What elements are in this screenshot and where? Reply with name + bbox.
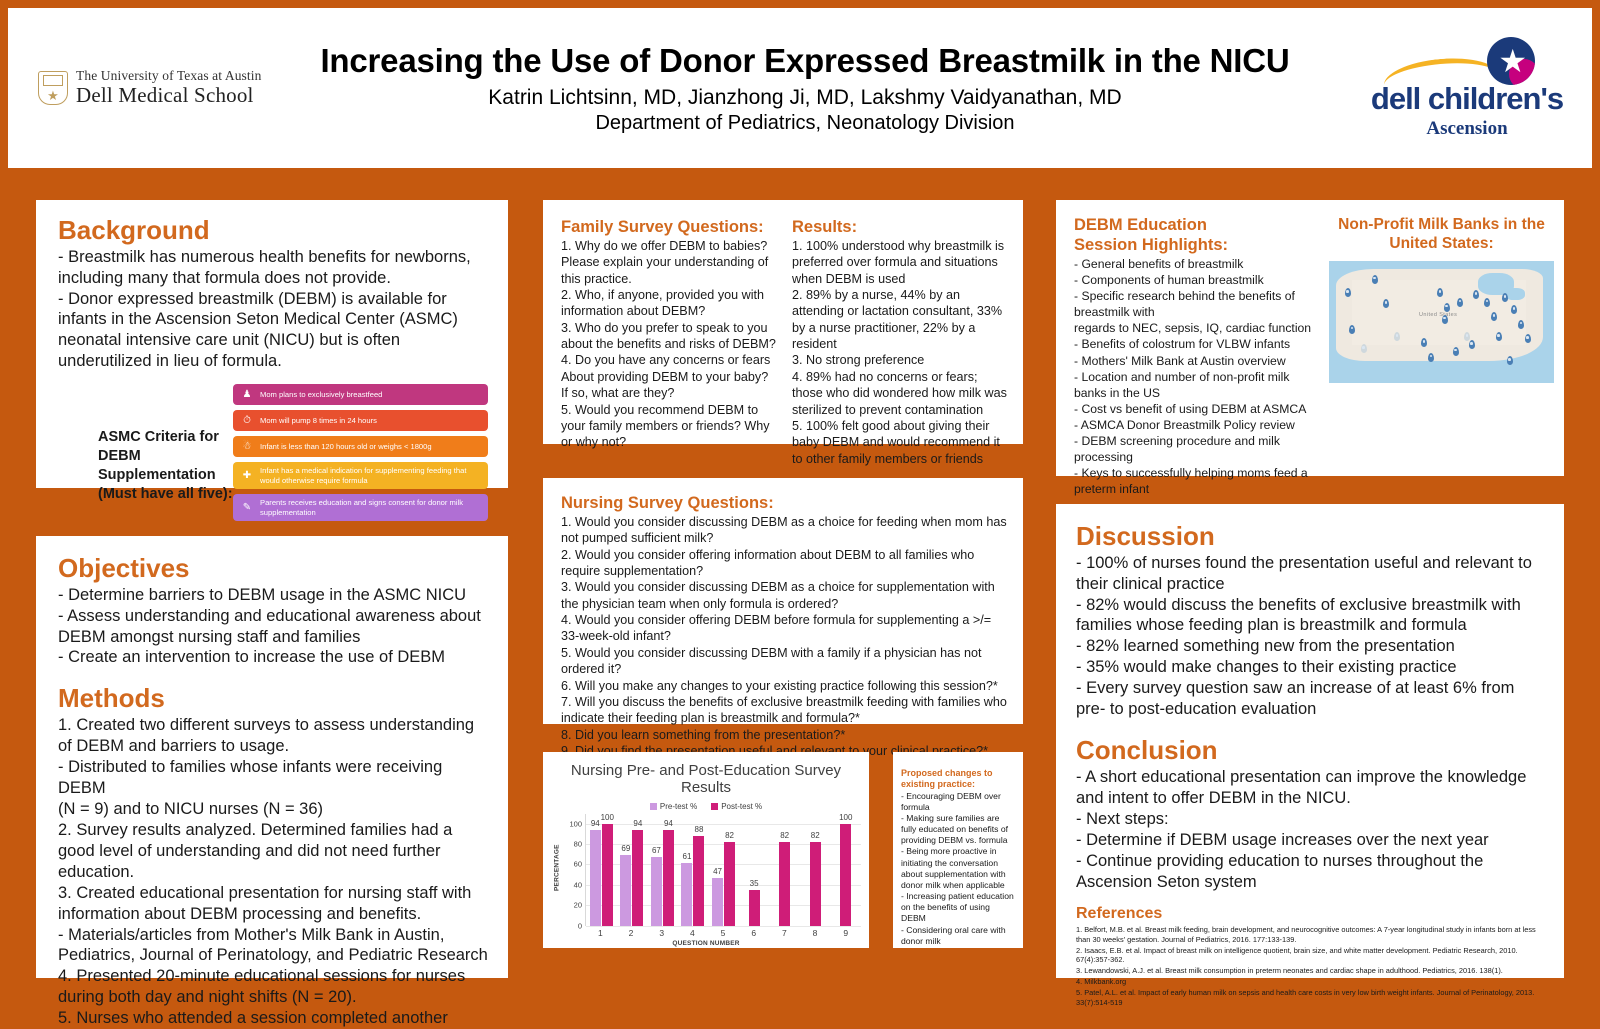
medical-cross-icon: ✚ — [241, 470, 253, 483]
ut-shield-icon — [38, 71, 68, 105]
poster-canvas: The University of Texas at Austin Dell M… — [0, 0, 1600, 1029]
map-pin — [1428, 353, 1434, 362]
criteria-text: Infant is less than 120 hours old or wei… — [260, 442, 432, 451]
chart-bar-group: 35 — [739, 814, 770, 926]
chart-bar[interactable]: 100 — [602, 824, 613, 926]
reference-item: 1. Belfort, M.B. et al. Breast milk feed… — [1076, 925, 1548, 945]
chart-bar-value: 94 — [664, 819, 673, 828]
map-pin — [1437, 288, 1443, 297]
poster-authors: Katrin Lichtsinn, MD, Jianzhong Ji, MD, … — [278, 86, 1332, 110]
chart-bar-value: 100 — [839, 813, 852, 822]
criteria-text: Infant has a medical indication for supp… — [260, 466, 480, 485]
proposed-changes-card: Proposed changes to existing practice: -… — [893, 752, 1023, 948]
swoosh-icon — [1382, 53, 1500, 89]
map-pin — [1484, 298, 1490, 307]
map-pin — [1394, 332, 1400, 341]
legend-item-pretest: Pre-test % — [650, 802, 697, 811]
proposed-changes-body: - Encouraging DEBM over formula - Making… — [901, 791, 1017, 947]
legend-label: Post-test % — [721, 802, 762, 811]
methods-heading: Methods — [58, 684, 490, 713]
criteria-bar: ☃ Infant is less than 120 hours old or w… — [233, 436, 488, 457]
chart-bar[interactable]: 61 — [681, 863, 692, 925]
chart-y-tick: 60 — [574, 860, 582, 869]
conclusion-body: - A short educational presentation can i… — [1076, 767, 1548, 893]
chart-bar[interactable]: 94 — [632, 830, 643, 926]
chart-bar[interactable]: 88 — [693, 836, 704, 926]
chart-bar-value: 82 — [780, 831, 789, 840]
education-heading-line1: DEBM Education — [1074, 216, 1319, 235]
chart-bar[interactable]: 94 — [663, 830, 674, 926]
chart-ylabel: PERCENTAGE — [551, 832, 563, 904]
chart-x-tick: 3 — [646, 928, 677, 938]
conclusion-heading: Conclusion — [1076, 736, 1548, 765]
family-survey-results: 1. 100% understood why breastmilk is pre… — [792, 238, 1009, 467]
chart-bar[interactable]: 67 — [651, 857, 662, 925]
map-pin — [1457, 298, 1463, 307]
discussion-conclusion-card: Discussion - 100% of nurses found the pr… — [1056, 504, 1564, 978]
legend-label: Pre-test % — [660, 802, 697, 811]
chart-x-tick: 8 — [800, 928, 831, 938]
chart-bar[interactable]: 82 — [810, 842, 821, 925]
discussion-body: - 100% of nurses found the presentation … — [1076, 553, 1548, 721]
chart-bar-value: 100 — [601, 813, 614, 822]
chart-bar-groups: 941006994679461884782358282100 — [586, 814, 861, 926]
map-pin — [1383, 299, 1389, 308]
chart-x-tick: 1 — [585, 928, 616, 938]
nursing-survey-card: Nursing Survey Questions: 1. Would you c… — [543, 478, 1023, 724]
chart-bar-value: 61 — [683, 852, 692, 861]
criteria-label: ASMC Criteria for DEBM Supplementation (… — [58, 384, 233, 526]
chart-bar-value: 82 — [725, 831, 734, 840]
chart-y-tick: 40 — [574, 880, 582, 889]
map-pin — [1507, 356, 1513, 365]
background-heading: Background — [58, 216, 488, 245]
map-pin — [1502, 293, 1508, 302]
background-body: - Breastmilk has numerous health benefit… — [58, 247, 488, 373]
pencil-icon: ✎ — [241, 502, 253, 515]
chart-bar-group: 82 — [769, 814, 800, 926]
chart-bar-group: 100 — [831, 814, 862, 926]
clock-icon: ⏱ — [241, 415, 253, 428]
criteria-bar: ⏱ Mom will pump 8 times in 24 hours — [233, 410, 488, 431]
chart-y-ticks: 020406080100 — [563, 814, 585, 926]
chart-y-tick: 0 — [578, 921, 582, 930]
chart-bar[interactable]: 94 — [590, 830, 601, 926]
chart-bar-value: 69 — [621, 844, 630, 853]
chart-plot-area: PERCENTAGE 020406080100 9410069946794618… — [551, 814, 861, 926]
chart-x-tick: 4 — [677, 928, 708, 938]
education-body: - General benefits of breastmilk - Compo… — [1074, 256, 1319, 497]
objectives-methods-card: Objectives - Determine barriers to DEBM … — [36, 536, 508, 978]
objectives-body: - Determine barriers to DEBM usage in th… — [58, 585, 490, 669]
criteria-block: ASMC Criteria for DEBM Supplementation (… — [58, 384, 488, 526]
chart-bar[interactable]: 69 — [620, 855, 631, 925]
family-questions-column: Family Survey Questions: 1. Why do we of… — [561, 218, 778, 436]
legend-item-posttest: Post-test % — [711, 802, 762, 811]
chart-bar[interactable]: 82 — [779, 842, 790, 925]
chart-bar-value: 88 — [695, 825, 704, 834]
chart-bar-group: 94100 — [586, 814, 617, 926]
ut-dell-medical-logo: The University of Texas at Austin Dell M… — [8, 69, 268, 106]
chart-x-tick: 6 — [738, 928, 769, 938]
dell-childrens-sub: Ascension — [1426, 118, 1507, 140]
criteria-bar: ♟ Mom plans to exclusively breastfeed — [233, 384, 488, 405]
map-pin — [1361, 344, 1367, 353]
chart-bar[interactable]: 82 — [724, 842, 735, 925]
chart-y-tick: 80 — [574, 840, 582, 849]
poster-title: Increasing the Use of Donor Expressed Br… — [278, 42, 1332, 80]
dell-childrens-mark-icon: ★ — [1377, 37, 1557, 87]
chart-bar-value: 82 — [811, 831, 820, 840]
map-pin — [1444, 303, 1450, 312]
nursing-survey-questions: 1. Would you consider discussing DEBM as… — [561, 514, 1009, 759]
person-icon: ♟ — [241, 389, 253, 402]
criteria-text: Parents receives education and signs con… — [260, 498, 480, 517]
map-pin — [1442, 315, 1448, 324]
chart-xlabel: QUESTION NUMBER — [551, 940, 861, 947]
map-pin — [1496, 332, 1502, 341]
criteria-text: Mom plans to exclusively breastfeed — [260, 390, 382, 399]
survey-results-chart-card: Nursing Pre- and Post-Education Survey R… — [543, 752, 869, 948]
chart-bars-area: 941006994679461884782358282100 — [585, 814, 861, 926]
references-list: 1. Belfort, M.B. et al. Breast milk feed… — [1076, 925, 1548, 1009]
map-pin — [1464, 332, 1470, 341]
criteria-bar: ✚ Infant has a medical indication for su… — [233, 462, 488, 489]
proposed-changes-heading: Proposed changes to existing practice: — [901, 768, 1017, 790]
map-pin — [1525, 334, 1531, 343]
star-icon: ★ — [1498, 45, 1527, 77]
nursing-survey-heading: Nursing Survey Questions: — [561, 494, 1009, 513]
reference-item: 2. Isaacs, E.B. et al. Impact of breast … — [1076, 946, 1548, 966]
chart-bar[interactable]: 47 — [712, 878, 723, 926]
title-block: Increasing the Use of Donor Expressed Br… — [268, 42, 1342, 135]
family-results-heading: Results: — [792, 218, 1009, 237]
chart-bar-group: 4782 — [708, 814, 739, 926]
ut-logo-line1: The University of Texas at Austin — [76, 69, 261, 84]
chart-legend: Pre-test % Post-test % — [551, 802, 861, 811]
chart-bar-value: 35 — [750, 879, 759, 888]
chart-x-tick: 5 — [708, 928, 739, 938]
chart-y-tick: 100 — [569, 819, 582, 828]
reference-item: 3. Lewandowski, A.J. et al. Breast milk … — [1076, 966, 1548, 976]
poster-department: Department of Pediatrics, Neonatology Di… — [278, 112, 1332, 135]
chart-bar[interactable]: 35 — [749, 890, 760, 926]
chart-x-tick: 2 — [616, 928, 647, 938]
map-pin — [1453, 347, 1459, 356]
chart-bar-group: 6188 — [678, 814, 709, 926]
chart-bar-value: 47 — [713, 867, 722, 876]
chart-bar[interactable]: 100 — [840, 824, 851, 926]
objectives-heading: Objectives — [58, 554, 490, 583]
background-card: Background - Breastmilk has numerous hea… — [36, 200, 508, 488]
map-heading: Non-Profit Milk Banks in the United Stat… — [1329, 216, 1554, 253]
chart-y-tick: 20 — [574, 901, 582, 910]
criteria-bars: ♟ Mom plans to exclusively breastfeed ⏱ … — [233, 384, 488, 526]
milk-bank-map-column: Non-Profit Milk Banks in the United Stat… — [1319, 216, 1554, 468]
discussion-heading: Discussion — [1076, 522, 1548, 551]
family-survey-card: Family Survey Questions: 1. Why do we of… — [543, 200, 1023, 444]
family-survey-questions: 1. Why do we offer DEBM to babies? Pleas… — [561, 238, 778, 451]
map-pin — [1518, 320, 1524, 329]
chart-bar-value: 94 — [633, 819, 642, 828]
chart-gridline — [586, 926, 861, 927]
chart-bar-group: 6794 — [647, 814, 678, 926]
dell-childrens-logo: ★ dell children's Ascension — [1342, 37, 1592, 140]
chart-x-ticks: 123456789 — [585, 928, 861, 938]
ut-logo-line2: Dell Medical School — [76, 84, 261, 107]
education-text-column: DEBM Education Session Highlights: - Gen… — [1074, 216, 1319, 468]
references-heading: References — [1076, 905, 1548, 923]
chart-bar-value: 94 — [591, 819, 600, 828]
reference-item: 5. Patel, A.L. et al. Impact of early hu… — [1076, 988, 1548, 1008]
map-country-label: United States — [1419, 312, 1457, 318]
criteria-bar: ✎ Parents receives education and signs c… — [233, 494, 488, 521]
map-pin — [1345, 288, 1351, 297]
chart-bar-group: 82 — [800, 814, 831, 926]
baby-icon: ☃ — [241, 441, 253, 454]
map-pin — [1421, 338, 1427, 347]
map-pin — [1469, 340, 1475, 349]
reference-item: 4. Milkbank.org — [1076, 977, 1548, 987]
chart-bar-value: 67 — [652, 846, 661, 855]
milk-banks-map[interactable]: United States — [1329, 261, 1554, 383]
chart-x-tick: 9 — [830, 928, 861, 938]
chart-x-tick: 7 — [769, 928, 800, 938]
map-pin — [1372, 275, 1378, 284]
education-heading-line2: Session Highlights: — [1074, 236, 1319, 255]
family-survey-heading: Family Survey Questions: — [561, 218, 778, 237]
poster-header: The University of Texas at Austin Dell M… — [8, 8, 1592, 168]
education-highlights-card: DEBM Education Session Highlights: - Gen… — [1056, 200, 1564, 476]
chart-title: Nursing Pre- and Post-Education Survey R… — [551, 762, 861, 797]
methods-body: 1. Created two different surveys to asse… — [58, 715, 490, 1029]
family-results-column: Results: 1. 100% understood why breastmi… — [792, 218, 1009, 436]
chart-bar-group: 6994 — [617, 814, 648, 926]
criteria-text: Mom will pump 8 times in 24 hours — [260, 416, 377, 425]
